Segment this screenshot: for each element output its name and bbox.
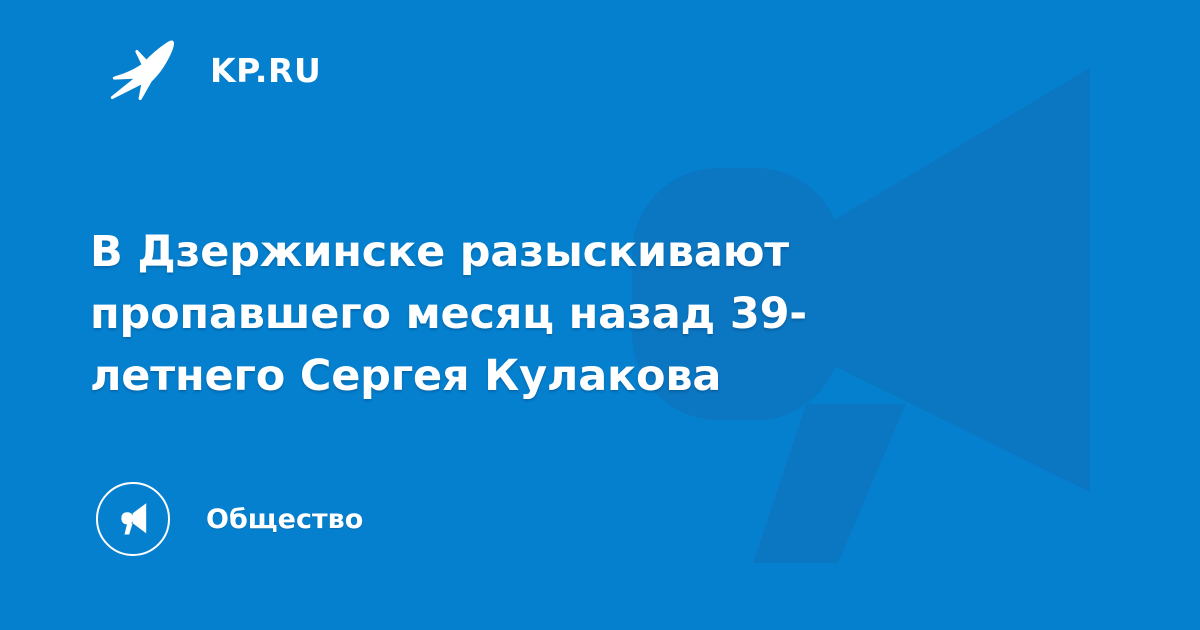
rubric[interactable]: Общество: [96, 482, 363, 556]
rubric-label: Общество: [206, 506, 363, 533]
rubric-badge: [96, 482, 170, 556]
brand-name: KP.RU: [210, 54, 321, 87]
headline: В Дзержинске разыскивают пропавшего меся…: [90, 221, 990, 407]
brand-logo[interactable]: KP.RU: [108, 38, 321, 102]
swallow-bird-icon: [108, 38, 180, 102]
social-share-card: KP.RU В Дзержинске разыскивают пропавшег…: [0, 0, 1200, 630]
megaphone-icon: [113, 499, 153, 539]
